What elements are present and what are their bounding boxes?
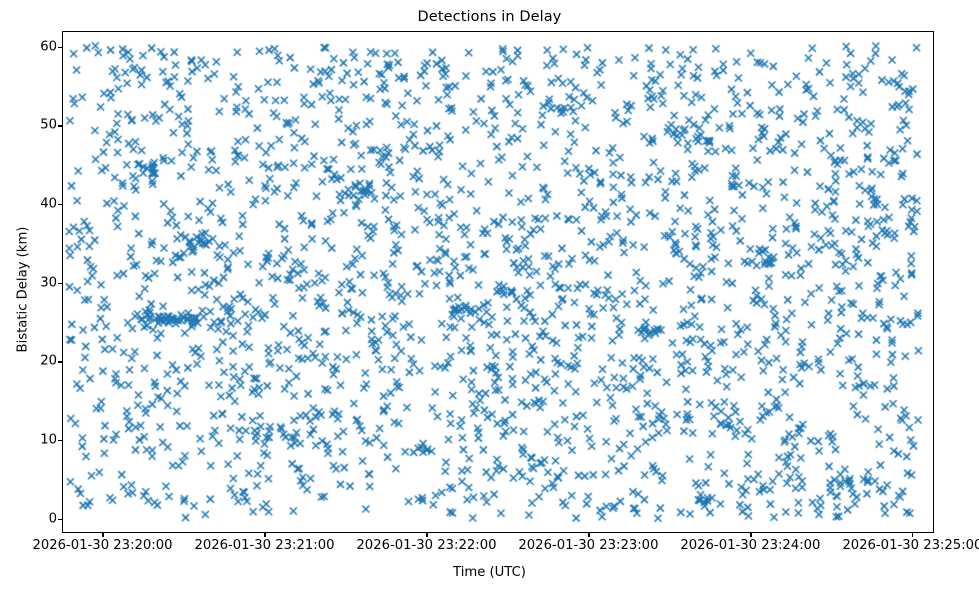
x-tick-mark bbox=[264, 533, 265, 537]
y-tick-label: 20 bbox=[40, 354, 57, 369]
y-tick-label: 60 bbox=[40, 39, 57, 54]
x-tick-label: 2026-01-30 23:24:00 bbox=[680, 538, 820, 553]
y-tick-mark bbox=[58, 440, 62, 441]
y-tick-mark bbox=[58, 204, 62, 205]
matplotlib-figure: Detections in Delay Time (UTC) Bistatic … bbox=[0, 0, 979, 590]
x-tick-mark bbox=[102, 533, 103, 537]
x-tick-label: 2026-01-30 23:22:00 bbox=[356, 538, 496, 553]
y-axis-label: Bistatic Delay (km) bbox=[16, 170, 31, 410]
x-tick-mark bbox=[912, 533, 913, 537]
y-tick-mark bbox=[58, 519, 62, 520]
x-tick-label: 2026-01-30 23:21:00 bbox=[194, 538, 334, 553]
x-axis-label: Time (UTC) bbox=[0, 565, 979, 580]
y-tick-mark bbox=[58, 47, 62, 48]
x-tick-label: 2026-01-30 23:25:00 bbox=[842, 538, 979, 553]
y-tick-label: 0 bbox=[49, 511, 57, 526]
x-tick-mark bbox=[588, 533, 589, 537]
y-tick-mark bbox=[58, 125, 62, 126]
y-tick-label: 40 bbox=[40, 197, 57, 212]
plot-area bbox=[62, 31, 934, 533]
y-tick-label: 50 bbox=[40, 118, 57, 133]
x-tick-mark bbox=[750, 533, 751, 537]
page-title: Detections in Delay bbox=[0, 9, 979, 25]
scatter-series bbox=[63, 32, 934, 533]
y-tick-label: 10 bbox=[40, 433, 57, 448]
x-tick-label: 2026-01-30 23:23:00 bbox=[518, 538, 658, 553]
y-tick-label: 30 bbox=[40, 275, 57, 290]
y-tick-mark bbox=[58, 361, 62, 362]
y-tick-mark bbox=[58, 283, 62, 284]
x-tick-mark bbox=[426, 533, 427, 537]
x-tick-label: 2026-01-30 23:20:00 bbox=[32, 538, 172, 553]
